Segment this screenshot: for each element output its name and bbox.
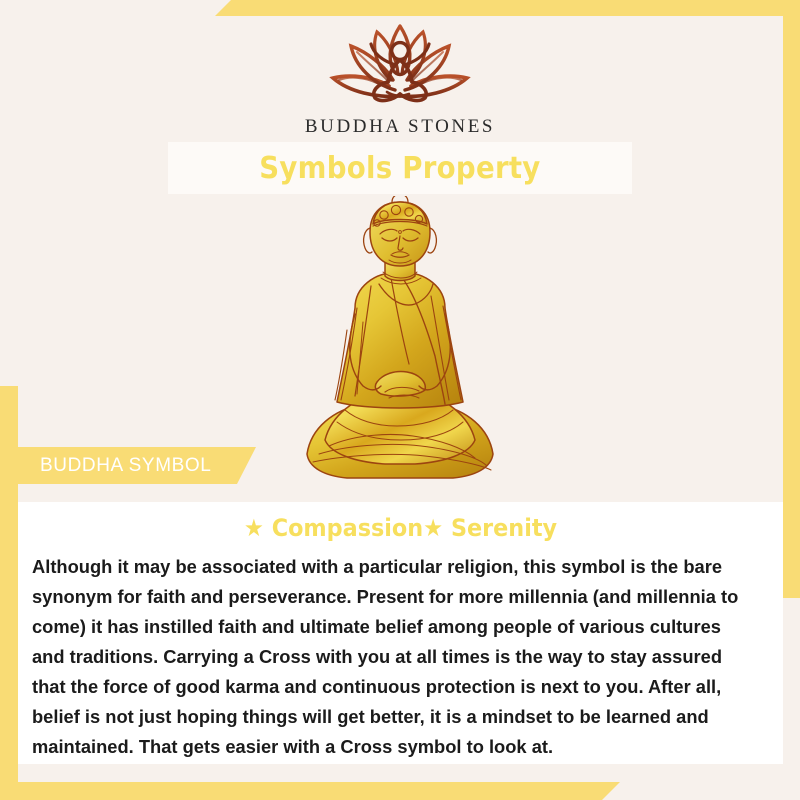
section-tag: BUDDHA SYMBOL bbox=[18, 447, 256, 484]
frame-accent-bottom bbox=[0, 782, 620, 800]
page-title: Symbols Property bbox=[259, 151, 540, 186]
frame-accent-top bbox=[215, 0, 800, 16]
poster-root: BUDDHA STONES Symbols Property bbox=[0, 0, 800, 800]
title-band: Symbols Property bbox=[168, 142, 632, 194]
content-panel: ★ Compassion★ Serenity Although it may b… bbox=[18, 502, 783, 764]
frame-accent-left bbox=[0, 386, 18, 800]
brand-name: BUDDHA STONES bbox=[0, 116, 800, 138]
lotus-meditation-icon bbox=[305, 18, 495, 114]
section-tag-label: BUDDHA SYMBOL bbox=[18, 455, 211, 477]
brand-header: BUDDHA STONES bbox=[0, 18, 800, 138]
frame-accent-right bbox=[783, 0, 800, 598]
section-subtitle: ★ Compassion★ Serenity bbox=[45, 514, 756, 542]
buddha-statue-icon bbox=[285, 196, 515, 496]
section-body-text: Although it may be associated with a par… bbox=[32, 552, 758, 762]
